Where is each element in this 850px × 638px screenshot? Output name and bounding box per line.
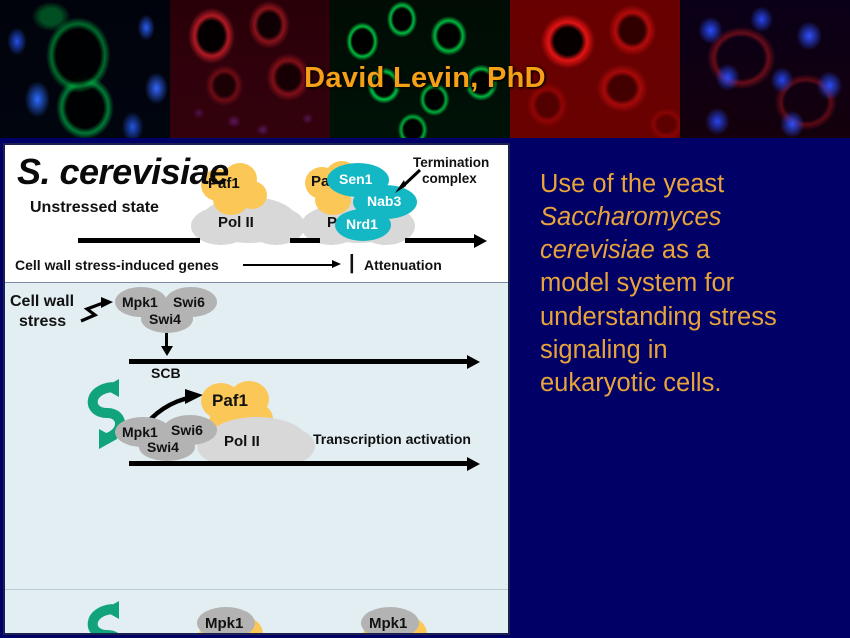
side-text-line3: model system for (540, 269, 734, 297)
dna-line-top-seg3 (405, 238, 475, 243)
header-micrograph-banner: David Levin, PhD (0, 0, 850, 138)
side-text-line1: Use of the yeast (540, 170, 724, 198)
dna-line-top-arrowhead (474, 234, 487, 248)
paf1-blob-1d (237, 181, 267, 209)
mpk1-label-top: Mpk1 (122, 294, 158, 310)
swi6-label-top: Swi6 (173, 294, 205, 310)
unstressed-state-label: Unstressed state (30, 199, 159, 217)
swi6-label-mid: Swi6 (171, 422, 203, 438)
pol2-label-1: Pol II (218, 214, 254, 231)
attenuation-label: Attenuation (364, 257, 442, 273)
termination-pointer-arrow-icon (393, 167, 423, 197)
lightning-arrow-icon (79, 297, 119, 325)
presenter-name-title: David Levin, PhD (0, 62, 850, 95)
dna-line-activation-seg2 (291, 461, 469, 466)
attenuation-arrowhead (332, 260, 341, 268)
figure-lower-panel: Cell wall stress Mpk1 Swi6 Swi4 SCB (5, 283, 508, 633)
dna-line-top-seg1 (78, 238, 200, 243)
dna-line-scb-arrowhead (467, 355, 480, 369)
pol2-blob-mid-c (255, 427, 315, 465)
scb-label: SCB (151, 365, 181, 381)
dna-line-activation-seg1 (129, 461, 295, 466)
transcription-activation-label: Transcription activation (313, 431, 471, 447)
pathway-figure: Paf1 Pol II Paf1 Pol II Sen1 Nab3 Nrd1 T… (3, 143, 510, 635)
mpk1-label-low1: Mpk1 (205, 615, 243, 632)
sen1-label: Sen1 (339, 171, 372, 187)
scb-binding-arrowhead (161, 346, 173, 356)
curved-transition-arrow-icon-2 (77, 601, 137, 633)
attenuation-block-bar: | (349, 253, 355, 273)
pol2-label-mid: Pol II (224, 433, 260, 450)
cell-wall-stress-label-line2: stress (19, 313, 66, 331)
panel-divider (5, 589, 508, 590)
swi4-label-mid: Swi4 (147, 439, 179, 455)
cell-wall-stress-genes-label: Cell wall stress-induced genes (15, 257, 219, 273)
attenuation-arrow-shaft (243, 264, 333, 266)
swi4-label-top: Swi4 (149, 311, 181, 327)
dna-line-activation-arrowhead (467, 457, 480, 471)
termination-complex-label-line2: complex (422, 171, 477, 186)
termination-complex-label-line1: Termination (413, 155, 489, 170)
dna-line-top-seg2 (290, 238, 320, 243)
mpk1-label-low2: Mpk1 (369, 615, 407, 632)
paf1-label-mid: Paf1 (212, 391, 248, 411)
nrd1-label: Nrd1 (346, 216, 378, 232)
side-text-line6: eukaryotic cells. (540, 369, 721, 397)
figure-top-panel-unstressed: Paf1 Pol II Paf1 Pol II Sen1 Nab3 Nrd1 T… (5, 145, 508, 283)
side-text-line5: signaling in (540, 336, 668, 364)
side-text-line4: understanding stress (540, 303, 777, 331)
cell-wall-stress-label-line1: Cell wall (10, 293, 74, 311)
mpk1-label-mid: Mpk1 (122, 424, 158, 440)
slide-body-text: Use of the yeast Saccharomyces cerevisia… (540, 168, 840, 400)
dna-line-scb (129, 359, 469, 364)
side-text-line2-tail: as a (655, 236, 710, 264)
figure-title-species: S. cerevisiae (17, 151, 229, 193)
